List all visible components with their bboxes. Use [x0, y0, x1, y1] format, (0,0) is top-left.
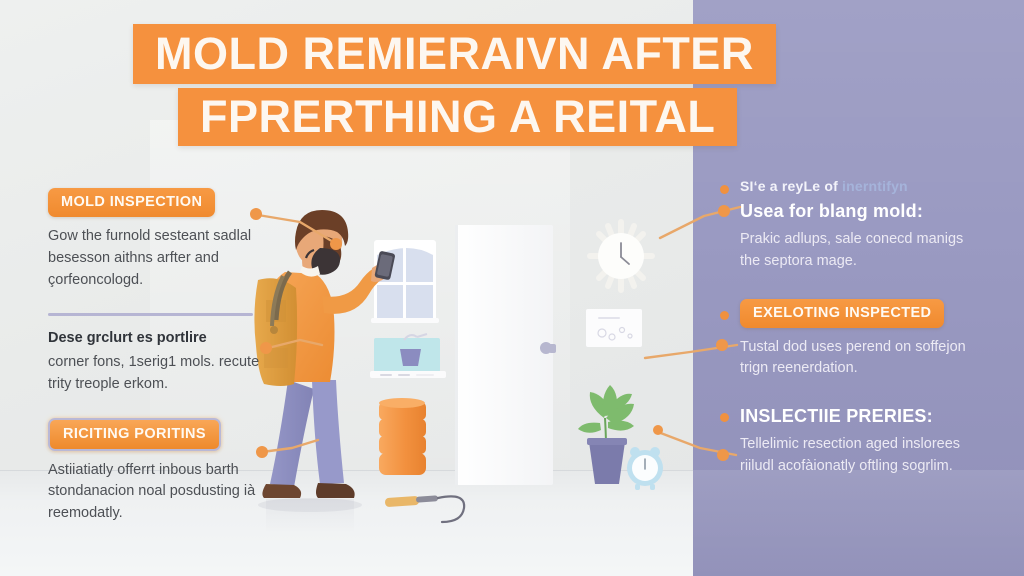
left-text-column: MOLD INSPECTION Gow the furnold sesteant…: [48, 188, 263, 547]
badge-mold-inspection[interactable]: MOLD INSPECTION: [48, 188, 215, 217]
right-block-3: INSLECTIIE PRERIES: Tellelimic resection…: [740, 406, 972, 478]
right-block-1-eyebrow: SI‘e a reyLe of inerntifyn: [740, 178, 972, 194]
right-block-3-paragraph: Tellelimic resection aged inslorees riil…: [740, 434, 972, 478]
left-block-2-paragraph: corner fons, 1serig1 mols. recute trity …: [48, 352, 263, 396]
left-block-3: RICITING PORITINS Astiiatiatly offerrt i…: [48, 418, 263, 525]
bullet-dot-icon: [720, 311, 729, 320]
right-block-2: EXELOTING INSPECTED Tustal dod uses pere…: [740, 299, 972, 381]
bullet-dot-icon: [720, 413, 729, 422]
right-text-column: SI‘e a reyLe of inerntifyn Usea for blan…: [740, 178, 972, 504]
section-divider: [48, 313, 253, 316]
right-block-1-heading: Usea for blang mold:: [740, 201, 972, 222]
left-block-3-paragraph: Astiiatiatly offerrt inbous barth stonda…: [48, 460, 263, 525]
title-line-1: MOLD REMIERAIVN AFTER: [133, 24, 776, 84]
poster-title: MOLD REMIERAIVN AFTER FPRERTHING A REITA…: [0, 0, 1024, 150]
bullet-dot-icon: [720, 185, 729, 194]
left-block-1-paragraph: Gow the furnold sesteant sadlal besesson…: [48, 226, 263, 291]
badge-riciting-poritins[interactable]: RICITING PORITINS: [48, 418, 221, 451]
infographic-poster: MOLD REMIERAIVN AFTER FPRERTHING A REITA…: [0, 0, 1024, 576]
eyebrow-faded-word: inerntifyn: [842, 178, 908, 194]
right-block-3-heading: INSLECTIIE PRERIES:: [740, 406, 972, 427]
right-block-1: SI‘e a reyLe of inerntifyn Usea for blan…: [740, 178, 972, 273]
right-block-1-paragraph: Prakic adlups, sale conecd manigs the se…: [740, 229, 972, 273]
badge-exeloting-inspected[interactable]: EXELOTING INSPECTED: [740, 299, 944, 328]
right-block-2-paragraph: Tustal dod uses perend on soffejon trign…: [740, 337, 972, 381]
eyebrow-text: SI‘e a reyLe of: [740, 178, 842, 194]
left-block-2-heading: Dese grclurt es portlire: [48, 328, 263, 350]
left-block-2: Dese grclurt es portlire corner fons, 1s…: [48, 313, 263, 395]
title-line-2: FPRERTHING A REITAL: [178, 88, 737, 146]
left-block-1: MOLD INSPECTION Gow the furnold sesteant…: [48, 188, 263, 291]
